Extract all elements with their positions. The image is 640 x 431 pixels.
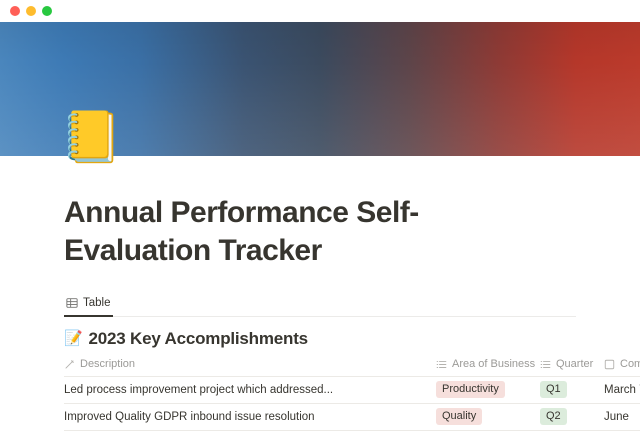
cell-completed[interactable]: June	[604, 403, 640, 430]
cell-area-of-business[interactable]: Quality	[436, 403, 540, 430]
column-header-area-label: Area of Business	[452, 358, 535, 370]
cell-description-text: Improved Quality GDPR inbound issue reso…	[64, 411, 436, 423]
table-row[interactable]: Led process improvement project which ad…	[64, 376, 640, 403]
tag-quarter: Q1	[540, 381, 567, 398]
table-row[interactable]: Improved Quality GDPR inbound issue reso…	[64, 403, 640, 430]
cell-description[interactable]: Led process improvement project which ad…	[64, 376, 436, 403]
column-header-completed[interactable]: Com	[604, 353, 640, 377]
column-header-description-label: Description	[80, 358, 135, 370]
view-tabs: Table	[64, 288, 576, 317]
memo-emoji: 📝	[64, 331, 82, 346]
tag-area: Productivity	[436, 381, 505, 398]
list-icon	[540, 359, 551, 370]
column-header-area-of-business[interactable]: Area of Business	[436, 353, 540, 377]
cell-description-text: Led process improvement project which ad…	[64, 384, 436, 396]
section-heading[interactable]: 📝 2023 Key Accomplishments	[64, 329, 576, 349]
window-titlebar	[0, 0, 640, 22]
page-content: 📒 Annual Performance Self-Evaluation Tra…	[0, 156, 640, 431]
database-table: Description Area of Business	[64, 353, 640, 431]
page-title[interactable]: Annual Performance Self-Evaluation Track…	[64, 156, 534, 270]
section-heading-label: 2023 Key Accomplishments	[88, 329, 307, 349]
tag-quarter: Q2	[540, 408, 567, 425]
notebook-emoji[interactable]: 📒	[60, 112, 122, 162]
maximize-window-button[interactable]	[42, 6, 52, 16]
cell-quarter[interactable]: Q2	[540, 403, 604, 430]
cell-completed-text: March 7	[604, 384, 640, 396]
column-header-quarter-label: Quarter	[556, 358, 593, 370]
column-header-completed-label: Com	[620, 358, 640, 370]
table-icon	[66, 297, 78, 309]
cell-area-of-business[interactable]: Productivity	[436, 376, 540, 403]
list-icon	[436, 359, 447, 370]
table-header-row: Description Area of Business	[64, 353, 640, 377]
pencil-icon	[64, 359, 75, 370]
cell-quarter[interactable]: Q1	[540, 376, 604, 403]
column-header-description[interactable]: Description	[64, 353, 436, 377]
cell-description[interactable]: Improved Quality GDPR inbound issue reso…	[64, 403, 436, 430]
column-header-quarter[interactable]: Quarter	[540, 353, 604, 377]
checkbox-icon	[604, 359, 615, 370]
minimize-window-button[interactable]	[26, 6, 36, 16]
close-window-button[interactable]	[10, 6, 20, 16]
cell-completed-text: June	[604, 411, 640, 423]
traffic-lights	[10, 6, 52, 16]
tab-table-label: Table	[83, 297, 111, 309]
tag-area: Quality	[436, 408, 482, 425]
tab-table[interactable]: Table	[64, 297, 113, 317]
cell-completed[interactable]: March 7	[604, 376, 640, 403]
